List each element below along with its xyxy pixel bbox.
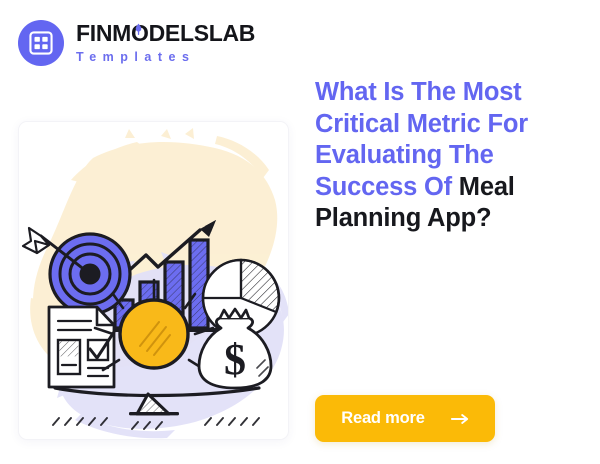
read-more-button[interactable]: Read more [315, 395, 495, 442]
grid-squares-icon [18, 20, 64, 66]
money-bag-dollar-sign: $ [224, 335, 246, 384]
brand-logo[interactable]: FINMODELSLAB Templates [18, 20, 255, 66]
business-metrics-balance-illustration: $ [19, 122, 288, 439]
brand-name: FINMODELSLAB [76, 22, 255, 45]
arrow-right-icon [451, 413, 469, 425]
illustration-card: $ [18, 121, 289, 440]
read-more-label: Read more [341, 409, 424, 428]
brand-subtitle: Templates [76, 51, 255, 64]
page-title: What Is The Most Critical Metric For Eva… [315, 77, 583, 235]
brand-wordmark: FINMODELSLAB Templates [76, 22, 255, 64]
document-checklist [49, 307, 114, 387]
promo-card-root: FINMODELSLAB Templates [0, 0, 600, 464]
location-pin-icon [135, 23, 142, 36]
brand-name-text: FINMODELSLAB [76, 20, 255, 46]
